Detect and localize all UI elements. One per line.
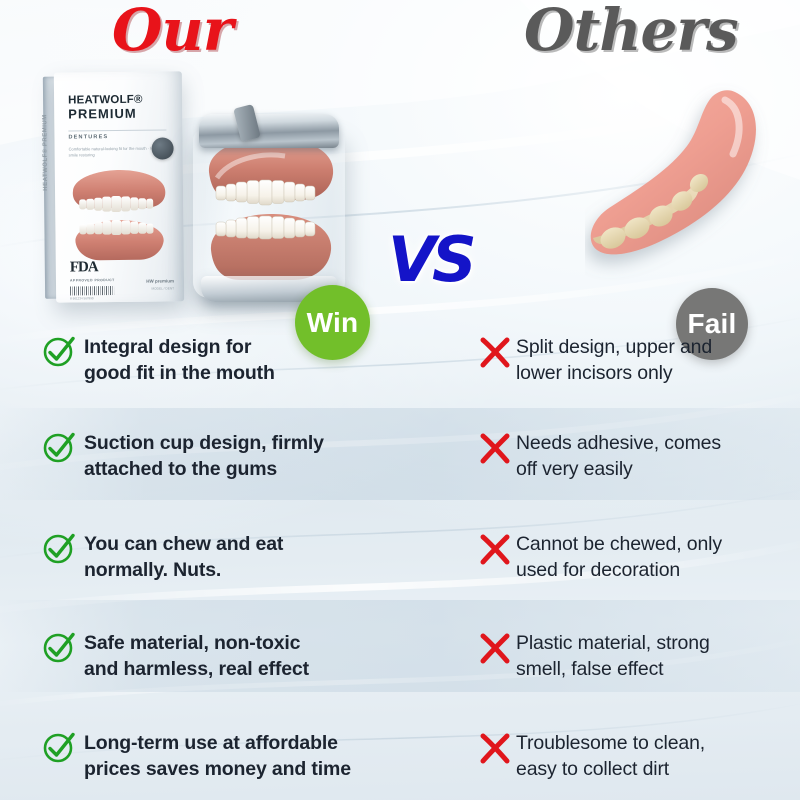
product-package-box: HEATWOLF® PREMIUM HEATWOLF® PREMIUM DENT… [54,71,184,302]
ours-feature-row-1: Integral design for good fit in the mout… [40,335,275,387]
package-secondary-logo: HW premium [146,278,174,283]
hero-product-comparison: HEATWOLF® PREMIUM HEATWOLF® PREMIUM DENT… [0,60,800,325]
barcode-icon [70,286,114,295]
cross-icon [478,335,512,369]
ours-feature-row-5: Long-term use at affordable prices saves… [40,731,351,783]
package-quality-seal-icon [151,137,173,159]
cross-icon [478,731,512,765]
package-denture-photo [61,167,178,264]
theirs-feature-row-5: Troublesome to clean, easy to collect di… [478,731,705,783]
versus-label: VS [388,223,473,296]
package-brand-line2: PREMIUM [68,107,143,123]
package-brand-line1: HEATWOLF® [68,94,143,107]
ours-feature-row-2: Suction cup design, firmly attached to t… [40,431,324,483]
theirs-feature-text-4: Plastic material, strong smell, false ef… [516,631,710,683]
theirs-feature-row-2: Needs adhesive, comes off very easily [478,431,721,483]
ours-feature-text-4: Safe material, non-toxic and harmless, r… [84,631,309,683]
check-circle-icon [40,728,78,766]
product-denture-jar [185,82,355,304]
ours-feature-text-5: Long-term use at affordable prices saves… [84,731,351,783]
ours-feature-row-3: You can chew and eat normally. Nuts. [40,532,283,584]
check-circle-icon [40,529,78,567]
cross-icon [478,532,512,566]
theirs-feature-text-5: Troublesome to clean, easy to collect di… [516,731,705,783]
full-denture-set-photo [199,134,341,286]
check-circle-icon [40,628,78,666]
feature-comparison-columns: Integral design for good fit in the mout… [0,325,800,800]
ours-feature-list: Integral design for good fit in the mout… [40,325,420,800]
comparison-infographic: Our Others HEATWOLF® PREMIUM HEATWOLF® P… [0,0,800,800]
ours-feature-row-4: Safe material, non-toxic and harmless, r… [40,631,309,683]
cross-icon [478,431,512,465]
theirs-feature-row-4: Plastic material, strong smell, false ef… [478,631,710,683]
competitor-denture-photo [585,78,785,308]
jar-lid [199,114,339,148]
theirs-feature-text-3: Cannot be chewed, only used for decorati… [516,532,722,584]
check-circle-icon [40,332,78,370]
barcode-number: 8 901234 567890 [70,296,93,300]
package-description: Comfortable natural-looking fit for the … [69,146,165,159]
header-ours: Our [112,0,232,64]
package-subtitle: DENTURES [68,134,108,140]
ours-feature-text-3: You can chew and eat normally. Nuts. [84,532,283,584]
package-spine-text: HEATWOLF® PREMIUM [42,101,49,191]
fda-logo-caption: APPROVED PRODUCT [70,278,115,282]
ours-feature-text-1: Integral design for good fit in the mout… [84,335,275,387]
theirs-feature-row-3: Cannot be chewed, only used for decorati… [478,532,722,584]
theirs-feature-text-1: Split design, upper and lower incisors o… [516,335,712,387]
header-theirs: Others [524,0,738,64]
theirs-feature-text-2: Needs adhesive, comes off very easily [516,431,721,483]
fda-logo-icon: FDA [70,259,98,276]
package-model-code: MODEL / DENT [151,286,174,290]
cross-icon [478,631,512,665]
theirs-feature-row-1: Split design, upper and lower incisors o… [478,335,712,387]
theirs-feature-list: Split design, upper and lower incisors o… [478,325,800,800]
check-circle-icon [40,428,78,466]
ours-feature-text-2: Suction cup design, firmly attached to t… [84,431,324,483]
package-brand: HEATWOLF® PREMIUM [68,94,143,123]
headers: Our Others [0,0,800,62]
